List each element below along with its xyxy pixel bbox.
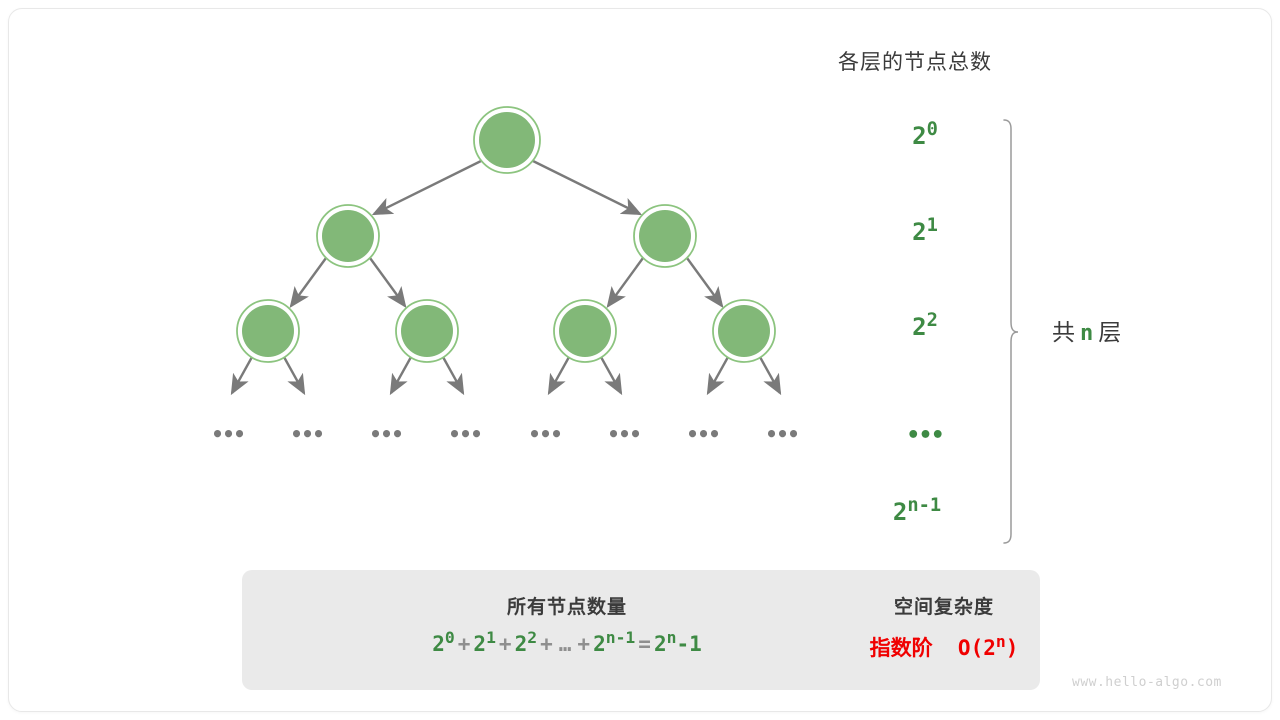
level-label-exponent: 1 [927,215,938,236]
summary-box: 所有节点数量 20+21+22+…+2n-1=2n-1 空间复杂度 指数阶 O(… [242,570,1040,690]
formula-term-0: 20 [432,632,455,656]
level-label-base: 2 [893,498,907,526]
level-label-base: 2 [912,313,926,341]
formula-operator: + [574,632,593,656]
formula-term-ellipsis: … [556,632,575,656]
total-layers-prefix: 共 [1052,319,1076,345]
complexity-notation: O(2n) [958,636,1018,660]
formula-term-2: 22 [515,632,538,656]
level-label-base: 2 [912,122,926,150]
leaf-ellipsis: ••• [683,422,723,446]
leaf-ellipsis: ••• [208,422,248,446]
level-label-base: 2 [912,218,926,246]
formula-term-4: 2n-1 [593,632,635,656]
formula-operator: + [455,632,474,656]
watermark: www.hello-algo.com [1072,675,1222,690]
summary-formula: 20+21+22+…+2n-1=2n-1 [302,632,832,656]
leaf-ellipsis: ••• [604,422,644,446]
total-layers-variable: n [1076,321,1098,346]
formula-operator: + [496,632,515,656]
level-label-2: 22 [880,313,970,341]
summary-left-panel: 所有节点数量 20+21+22+…+2n-1=2n-1 [302,592,832,656]
level-label-ellipsis: ••• [880,423,970,448]
level-label-1: 21 [880,218,970,246]
leaf-ellipsis: ••• [287,422,327,446]
summary-right-panel: 空间复杂度 指数阶 O(2n) [854,592,1034,662]
level-label-last: 2n-1 [872,498,962,526]
formula-result: 2n-1 [654,632,702,656]
level-label-exponent: 2 [927,310,938,331]
summary-left-title: 所有节点数量 [302,592,832,619]
leaf-ellipsis: ••• [762,422,802,446]
column-title: 各层的节点总数 [838,46,992,76]
level-label-exponent: n-1 [907,495,941,516]
leaf-ellipsis: ••• [525,422,565,446]
summary-right-title: 空间复杂度 [854,592,1034,619]
summary-complexity: 指数阶 O(2n) [854,632,1034,662]
leaf-ellipsis: ••• [445,422,485,446]
formula-operator: + [537,632,556,656]
total-layers-suffix: 层 [1098,319,1122,345]
formula-term-1: 21 [473,632,496,656]
complexity-order-label: 指数阶 [870,637,933,660]
leaf-ellipsis: ••• [366,422,406,446]
diagram-canvas: 各层的节点总数 20 21 22 ••• 2n-1 共n层 ••• ••• ••… [0,0,1280,720]
formula-equals: = [635,632,654,656]
level-label-0: 20 [880,122,970,150]
total-layers-label: 共n层 [1052,313,1122,347]
level-label-exponent: 0 [927,119,938,140]
